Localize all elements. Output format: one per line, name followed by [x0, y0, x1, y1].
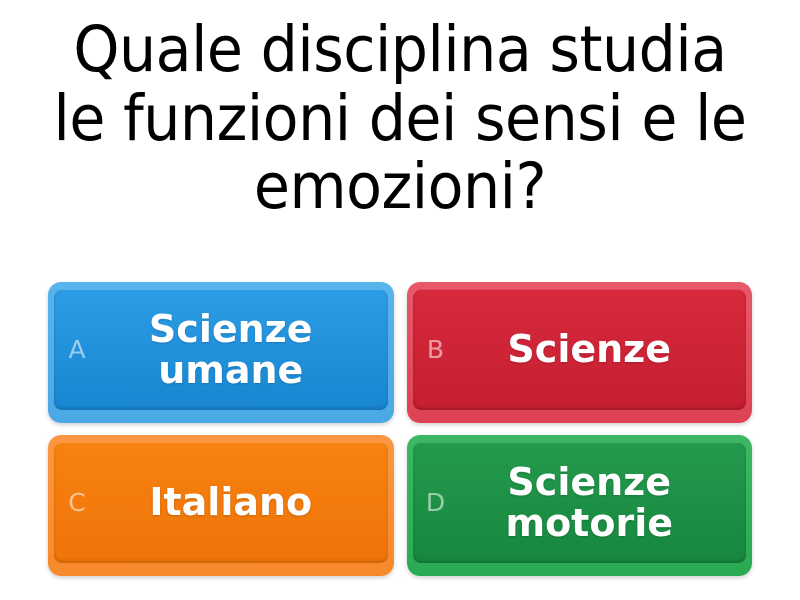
answer-option-a-label: Scienze umane: [100, 309, 388, 390]
answer-option-a-panel: A Scienze umane: [54, 289, 388, 410]
answer-option-d-letter: D: [413, 490, 459, 515]
question-text: Quale disciplina studia le funzioni dei …: [48, 16, 751, 222]
answer-option-c-letter: C: [54, 490, 100, 515]
answer-option-a-letter: A: [54, 337, 100, 362]
answer-option-b-panel: B Scienze: [413, 289, 747, 410]
answer-option-b-letter: B: [413, 337, 459, 362]
answer-option-d-panel: D Scienze motorie: [413, 442, 747, 563]
question-area: Quale disciplina studia le funzioni dei …: [0, 0, 800, 282]
answer-option-c-panel: C Italiano: [54, 442, 388, 563]
answer-option-c-label: Italiano: [100, 482, 388, 523]
answer-option-a[interactable]: A Scienze umane: [48, 282, 394, 423]
answer-options-grid: A Scienze umane B Scienze C Italiano D S…: [0, 282, 800, 600]
answer-option-d-label: Scienze motorie: [459, 462, 747, 543]
quiz-screen: Quale disciplina studia le funzioni dei …: [0, 0, 800, 600]
answer-option-d[interactable]: D Scienze motorie: [407, 435, 753, 576]
answer-option-c[interactable]: C Italiano: [48, 435, 394, 576]
answer-option-b[interactable]: B Scienze: [407, 282, 753, 423]
answer-option-b-label: Scienze: [459, 329, 747, 370]
